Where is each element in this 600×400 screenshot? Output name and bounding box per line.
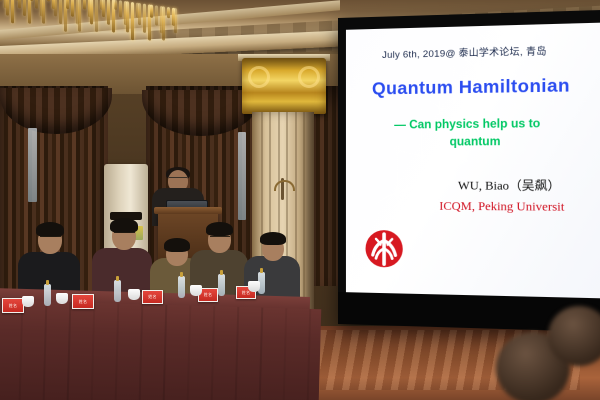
- panelist-glasses-icon: [40, 236, 61, 240]
- gold-capital-icon: [242, 58, 326, 114]
- slide-affiliation: ICQM, Peking Universit: [439, 199, 600, 216]
- podium-top: [154, 207, 222, 214]
- conference-photo: July 6th, 2019@ 泰山学术论坛, 青岛 Quantum Hamil…: [0, 0, 600, 400]
- slide-subtitle-line-2: quantum: [450, 135, 600, 149]
- water-bottle: [178, 276, 185, 298]
- panelist-glasses-icon: [114, 232, 135, 236]
- name-card: 姓名: [2, 298, 24, 313]
- capital-volute-right: [298, 66, 320, 88]
- peking-university-logo-icon: [364, 228, 404, 269]
- water-bottle: [114, 280, 121, 302]
- banquet-hall-room: July 6th, 2019@ 泰山学术论坛, 青岛 Quantum Hamil…: [0, 0, 600, 400]
- presentation-slide: July 6th, 2019@ 泰山学术论坛, 青岛 Quantum Hamil…: [346, 22, 600, 298]
- panelist-hair: [110, 218, 138, 233]
- tea-cup: [128, 289, 140, 300]
- panelist-hair: [206, 222, 233, 236]
- tea-cup: [190, 285, 202, 296]
- slide-subtitle-line-1: — Can physics help us to: [394, 116, 600, 131]
- tea-cup: [22, 296, 34, 307]
- water-bottle: [44, 284, 51, 306]
- panelist-hair: [164, 238, 190, 252]
- projection-screen-frame: July 6th, 2019@ 泰山学术论坛, 青岛 Quantum Hamil…: [338, 10, 600, 333]
- slide-author: WU, Biao（吴飙）: [458, 176, 600, 194]
- tea-cup: [56, 293, 68, 304]
- slide-date-line: July 6th, 2019@ 泰山学术论坛, 青岛: [382, 40, 600, 62]
- name-card: 姓名: [142, 290, 163, 304]
- capital-volute-left: [248, 66, 270, 88]
- panel-table-skirt: [0, 300, 321, 400]
- panelist-glasses-icon: [210, 236, 230, 240]
- panelist-hair: [36, 222, 64, 237]
- projection-screen: July 6th, 2019@ 泰山学术论坛, 青岛 Quantum Hamil…: [346, 22, 600, 298]
- tea-cup: [248, 281, 260, 292]
- water-bottle: [218, 274, 225, 296]
- panelist-hair: [260, 232, 286, 245]
- window-light-center: [238, 132, 246, 220]
- name-card: 姓名: [72, 294, 94, 309]
- wall-sconce-icon: [272, 178, 294, 204]
- speaker-glasses-icon: [169, 177, 187, 182]
- slide-title: Quantum Hamiltonian: [372, 73, 600, 100]
- window-light-left: [28, 128, 37, 202]
